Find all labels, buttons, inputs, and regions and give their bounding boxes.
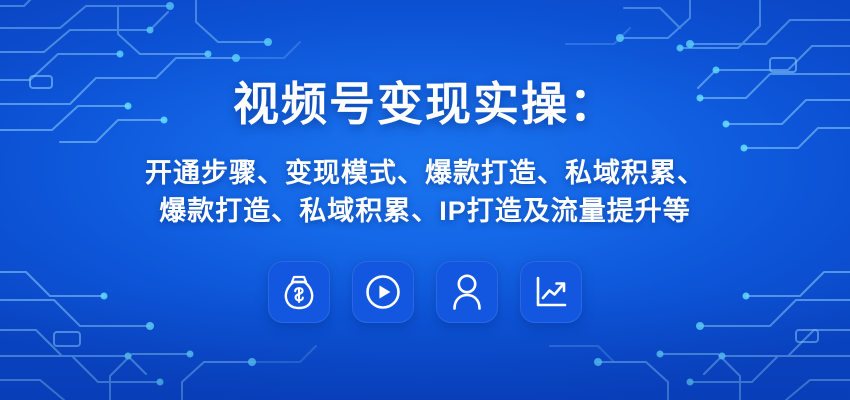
growth-chart-tile[interactable] [520, 261, 582, 323]
feature-icon-row [268, 261, 582, 323]
user-tile[interactable] [436, 261, 498, 323]
play-button-icon [364, 273, 402, 311]
subtitle-line-2: 爆款打造、私域积累、IP打造及流量提升等 [145, 192, 705, 230]
money-bag-icon [282, 274, 316, 310]
growth-chart-icon [534, 275, 568, 309]
subtitle-line-1: 开通步骤、变现模式、爆款打造、私域积累、 [145, 154, 705, 192]
banner-content: 视频号变现实操： 开通步骤、变现模式、爆款打造、私域积累、 爆款打造、私域积累、… [0, 0, 850, 400]
subtitle: 开通步骤、变现模式、爆款打造、私域积累、 爆款打造、私域积累、IP打造及流量提升… [145, 154, 705, 231]
promo-banner: 视频号变现实操： 开通步骤、变现模式、爆款打造、私域积累、 爆款打造、私域积累、… [0, 0, 850, 400]
money-bag-tile[interactable] [268, 261, 330, 323]
user-icon [451, 273, 483, 311]
play-button-tile[interactable] [352, 261, 414, 323]
page-title: 视频号变现实操： [233, 68, 617, 134]
